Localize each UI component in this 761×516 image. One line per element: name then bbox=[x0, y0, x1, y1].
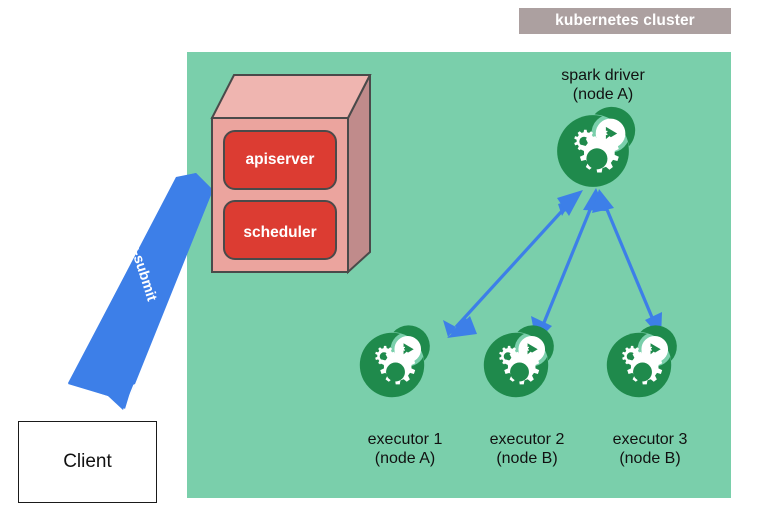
spark-driver-icon[interactable] bbox=[557, 107, 635, 187]
spark-driver-label: spark driver (node A) bbox=[528, 66, 678, 104]
client-box[interactable]: Client bbox=[18, 421, 157, 503]
executor-2-icon[interactable] bbox=[484, 325, 554, 397]
client-label: Client bbox=[63, 451, 112, 473]
diagram-canvas: kubernetes cluster bbox=[0, 0, 761, 516]
executor-1-label: executor 1 (node A) bbox=[340, 430, 470, 468]
executor-1-icon[interactable] bbox=[360, 325, 430, 397]
executor-3-label: executor 3 (node B) bbox=[585, 430, 715, 468]
executor-2-label: executor 2 (node B) bbox=[462, 430, 592, 468]
executor-3-icon[interactable] bbox=[607, 325, 677, 397]
